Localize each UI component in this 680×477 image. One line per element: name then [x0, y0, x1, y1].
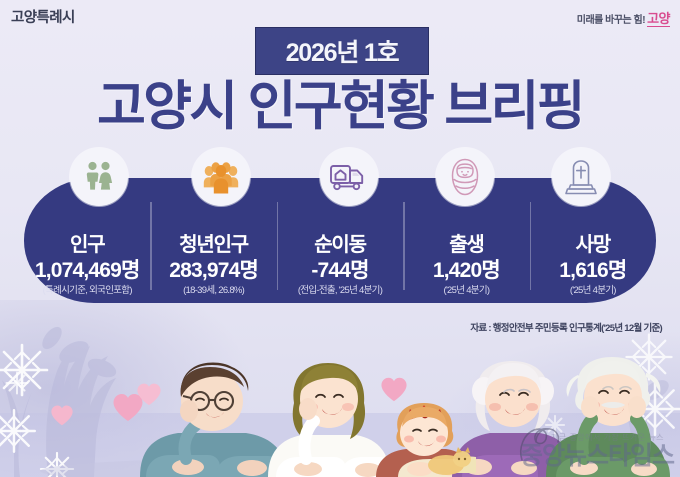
stat-note: (18-39세, 26.8%): [183, 286, 244, 296]
group-people-icon: [202, 160, 240, 194]
infographic-poster: 고양특례시 미래를 바꾸는 힘!고양 2026년 1호 고양시 인구현황 브리핑…: [0, 0, 680, 477]
stat-label: 청년인구: [179, 235, 248, 255]
family-illustration: [0, 347, 680, 477]
city-brand-logo: 고양특례시: [11, 6, 75, 27]
figure-man: [140, 363, 288, 477]
issue-badge: 2026년 1호: [255, 27, 429, 75]
stat-value: 1,616명: [559, 260, 626, 281]
swaddled-baby-icon: [450, 157, 480, 197]
city-slogan-text: 미래를 바꾸는 힘!: [577, 15, 645, 26]
stat-note: (전입-전출, '25년 4분기): [298, 286, 382, 296]
stat-label: 순이동: [314, 235, 366, 255]
stat-icon-bubble-births: [436, 148, 494, 206]
stat-icon-bubble-deaths: [552, 148, 610, 206]
stat-label: 사망: [576, 235, 610, 255]
stat-value: 1,074,469명: [35, 260, 140, 281]
stat-value: -744명: [311, 260, 368, 281]
stat-icon-bubble-population: [70, 148, 128, 206]
stat-value: 283,974명: [169, 260, 258, 281]
city-slogan: 미래를 바꾸는 힘!고양: [577, 8, 670, 27]
watermark-swirl-icon: [516, 420, 562, 467]
stat-icon-bubble-migration: [320, 148, 378, 206]
issue-badge-label: 2026년 1호: [286, 33, 399, 69]
two-people-icon: [81, 159, 117, 195]
source-note: 자료 : 행정안전부 주민등록 인구통계('25년 12월 기준): [470, 320, 662, 334]
city-slogan-accent: 고양: [647, 11, 670, 27]
figure-elderly-man: [546, 357, 670, 477]
stat-icon-bubble-youth: [192, 148, 250, 206]
stat-note: ('25년 4분기): [570, 286, 616, 296]
stat-label: 인구: [70, 235, 104, 255]
stat-note: ('25년 4분기): [443, 286, 489, 296]
moving-truck-icon: [329, 161, 369, 193]
stat-label: 출생: [449, 235, 483, 255]
figure-woman: [268, 363, 392, 477]
stat-note: (특례시기준, 외국인포함): [43, 286, 132, 296]
stat-value: 1,420명: [433, 260, 500, 281]
page-title: 고양시 인구현황 브리핑: [0, 78, 680, 135]
gravestone-icon: [564, 158, 598, 196]
